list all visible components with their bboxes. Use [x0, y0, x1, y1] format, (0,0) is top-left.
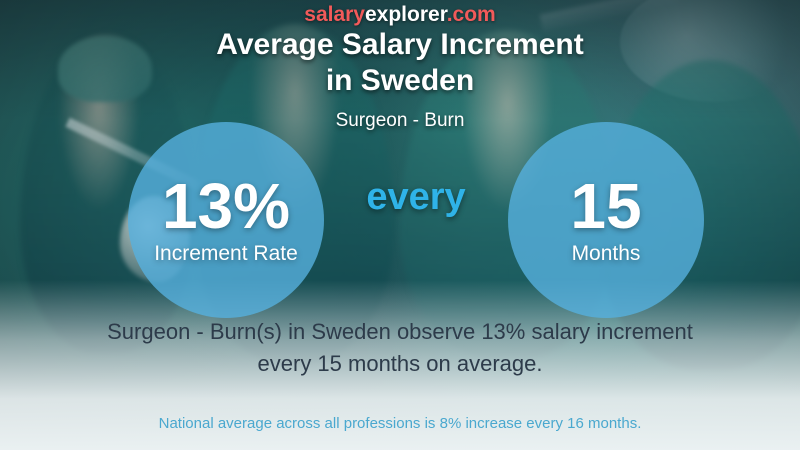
increment-rate-label: Increment Rate	[154, 242, 298, 266]
page-title: Average Salary Increment in Sweden	[0, 27, 800, 99]
page-title-line2: in Sweden	[0, 63, 800, 99]
logo-text-salary: salary	[304, 3, 365, 26]
summary-line1: Surgeon - Burn(s) in Sweden observe 13% …	[0, 316, 800, 348]
infographic-card: salaryexplorer.com Average Salary Increm…	[0, 0, 800, 450]
logo-text-domain: .com	[447, 3, 496, 26]
frequency-circle: 15 Months	[508, 122, 704, 318]
frequency-label: Months	[572, 242, 641, 266]
logo-text-explorer: explorer	[365, 3, 447, 26]
frequency-value: 15	[570, 174, 641, 238]
summary-line2: every 15 months on average.	[0, 348, 800, 380]
connector-text: every	[330, 176, 502, 219]
increment-rate-circle: 13% Increment Rate	[128, 122, 324, 318]
increment-rate-value: 13%	[162, 174, 290, 238]
page-subtitle: Surgeon - Burn	[0, 110, 800, 132]
page-title-line1: Average Salary Increment	[0, 27, 800, 63]
summary-text: Surgeon - Burn(s) in Sweden observe 13% …	[0, 316, 800, 380]
site-logo[interactable]: salaryexplorer.com	[0, 3, 800, 27]
footnote-text: National average across all professions …	[0, 415, 800, 432]
